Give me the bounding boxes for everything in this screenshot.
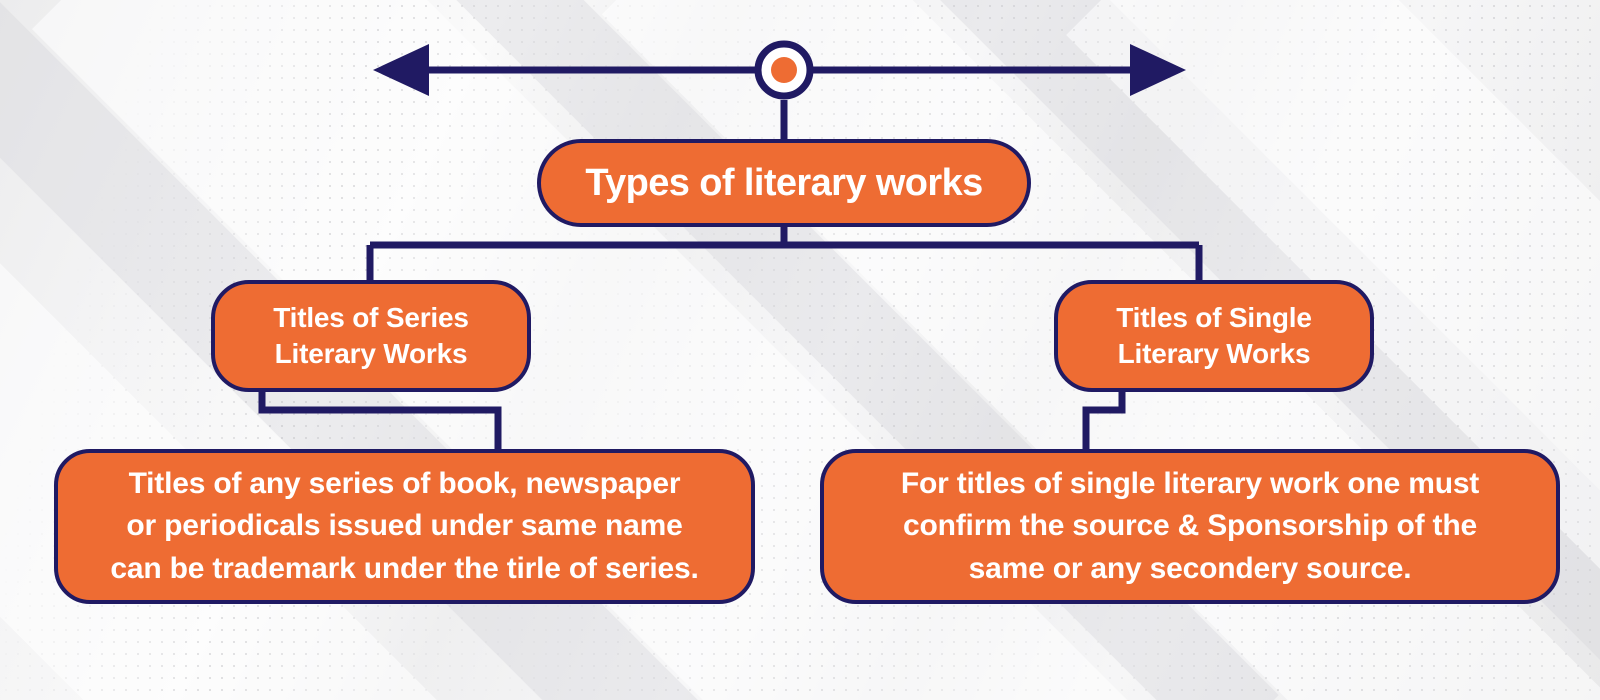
leaf-left-line1: Titles of any series of book, newspaper: [74, 463, 735, 506]
node-types-of-literary-works[interactable]: Types of literary works: [537, 139, 1031, 227]
arrow-left-icon: [373, 44, 429, 96]
branch-left-line1: Titles of Series: [215, 300, 527, 336]
leaf-left-line3: can be trademark under the tirle of seri…: [74, 548, 735, 591]
branch-left-line2: Literary Works: [215, 336, 527, 372]
circle-node-dot-icon: [771, 57, 797, 83]
leaf-right-line3: same or any secondery source.: [840, 548, 1540, 591]
leaf-connector-right: [1086, 392, 1122, 452]
diagram-canvas: Types of literary works Titles of Series…: [0, 0, 1600, 700]
leaf-connector-left: [262, 392, 498, 452]
leaf-right-text: For titles of single literary work one m…: [840, 463, 1540, 591]
node-series-description[interactable]: Titles of any series of book, newspaper …: [54, 449, 755, 604]
node-title-label: Types of literary works: [541, 159, 1027, 208]
branch-right-line1: Titles of Single: [1058, 300, 1370, 336]
leaf-right-line2: confirm the source & Sponsorship of the: [840, 505, 1540, 548]
branch-left-text: Titles of Series Literary Works: [215, 300, 527, 372]
node-titles-of-single-literary-works[interactable]: Titles of Single Literary Works: [1054, 280, 1374, 392]
branch-right-line2: Literary Works: [1058, 336, 1370, 372]
leaf-right-line1: For titles of single literary work one m…: [840, 463, 1540, 506]
branch-right-text: Titles of Single Literary Works: [1058, 300, 1370, 372]
node-single-description[interactable]: For titles of single literary work one m…: [820, 449, 1560, 604]
leaf-left-text: Titles of any series of book, newspaper …: [74, 463, 735, 591]
node-titles-of-series-literary-works[interactable]: Titles of Series Literary Works: [211, 280, 531, 392]
leaf-left-line2: or periodicals issued under same name: [74, 505, 735, 548]
arrow-right-icon: [1130, 44, 1186, 96]
